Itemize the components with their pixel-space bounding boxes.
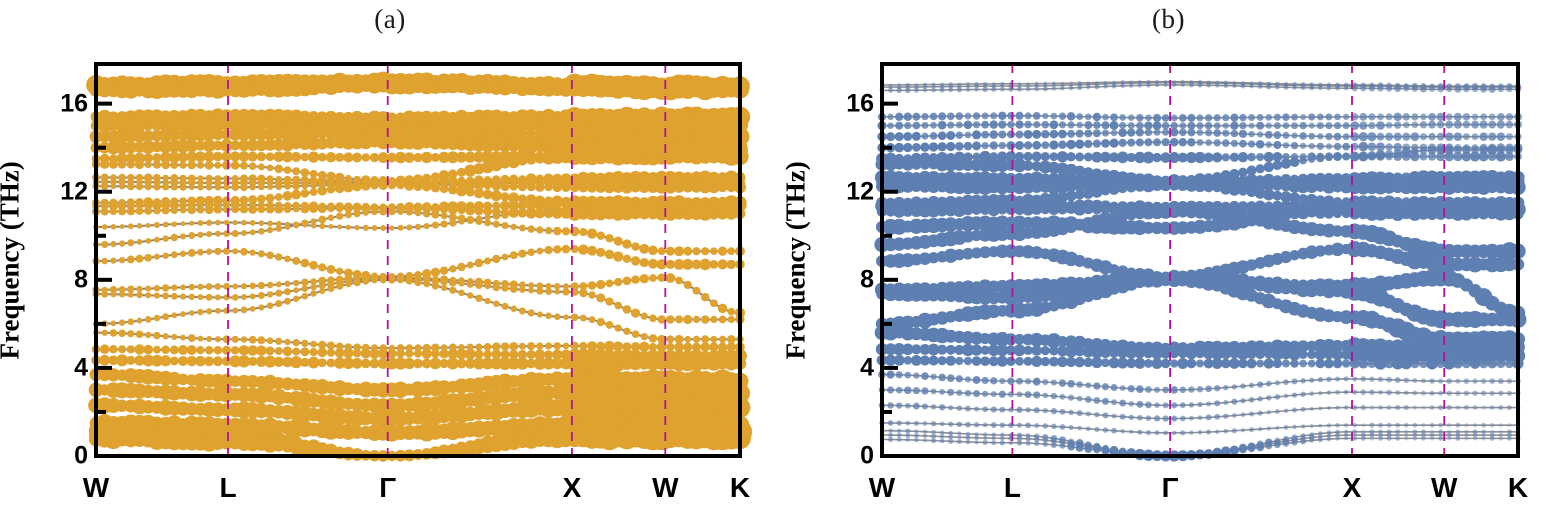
x-tick-label-1: W [83, 472, 109, 504]
x-tick-label-2: L [219, 472, 236, 504]
y-tick-label: 4 [834, 353, 874, 382]
phonon-bandstructure-figure: (a) Frequency (THz) 0481216WLΓXWK (b) Fr… [0, 0, 1557, 526]
x-tick-label-1: W [869, 472, 895, 504]
x-tick-label-2: L [1004, 472, 1021, 504]
y-tick-label: 8 [834, 265, 874, 294]
x-tick-label-4: X [1343, 472, 1362, 504]
y-tick-label: 0 [48, 442, 88, 471]
panel-b-plot [780, 0, 1557, 526]
x-tick-label-3: Γ [1162, 472, 1179, 504]
x-tick-label-3: Γ [379, 472, 396, 504]
x-tick-label-5: W [652, 472, 678, 504]
panel-a: (a) Frequency (THz) 0481216WLΓXWK [0, 0, 780, 526]
panel-a-plot [0, 0, 780, 526]
x-tick-label-4: X [563, 472, 582, 504]
y-tick-label: 12 [834, 177, 874, 206]
y-tick-label: 16 [834, 89, 874, 118]
y-tick-label: 4 [48, 353, 88, 382]
y-tick-label: 8 [48, 265, 88, 294]
x-tick-label-6: K [1508, 472, 1528, 504]
y-tick-label: 12 [48, 177, 88, 206]
panel-b: (b) Frequency (THz) 0481216WLΓXWK [780, 0, 1557, 526]
y-tick-label: 0 [834, 442, 874, 471]
x-tick-label-6: K [730, 472, 750, 504]
y-tick-label: 16 [48, 89, 88, 118]
x-tick-label-5: W [1431, 472, 1457, 504]
